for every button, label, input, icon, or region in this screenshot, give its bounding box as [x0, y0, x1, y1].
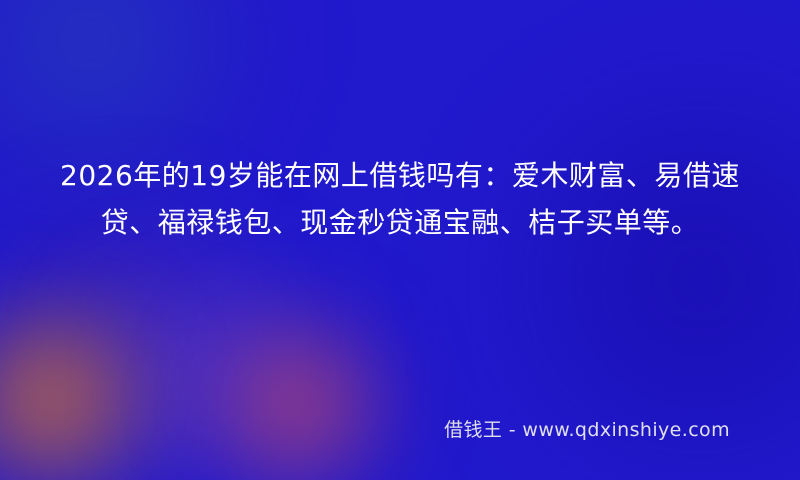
site-watermark: 借钱王 - www.qdxinshiye.com: [444, 415, 730, 442]
background-blob-pink: [195, 310, 405, 480]
background-blob-violet: [60, 250, 360, 480]
promo-banner: 2026年的19岁能在网上借钱吗有：爱木财富、易借速贷、福禄钱包、现金秒贷通宝融…: [0, 0, 800, 480]
headline-text: 2026年的19岁能在网上借钱吗有：爱木财富、易借速贷、福禄钱包、现金秒贷通宝融…: [50, 152, 750, 246]
background-blob-orange: [0, 300, 170, 480]
